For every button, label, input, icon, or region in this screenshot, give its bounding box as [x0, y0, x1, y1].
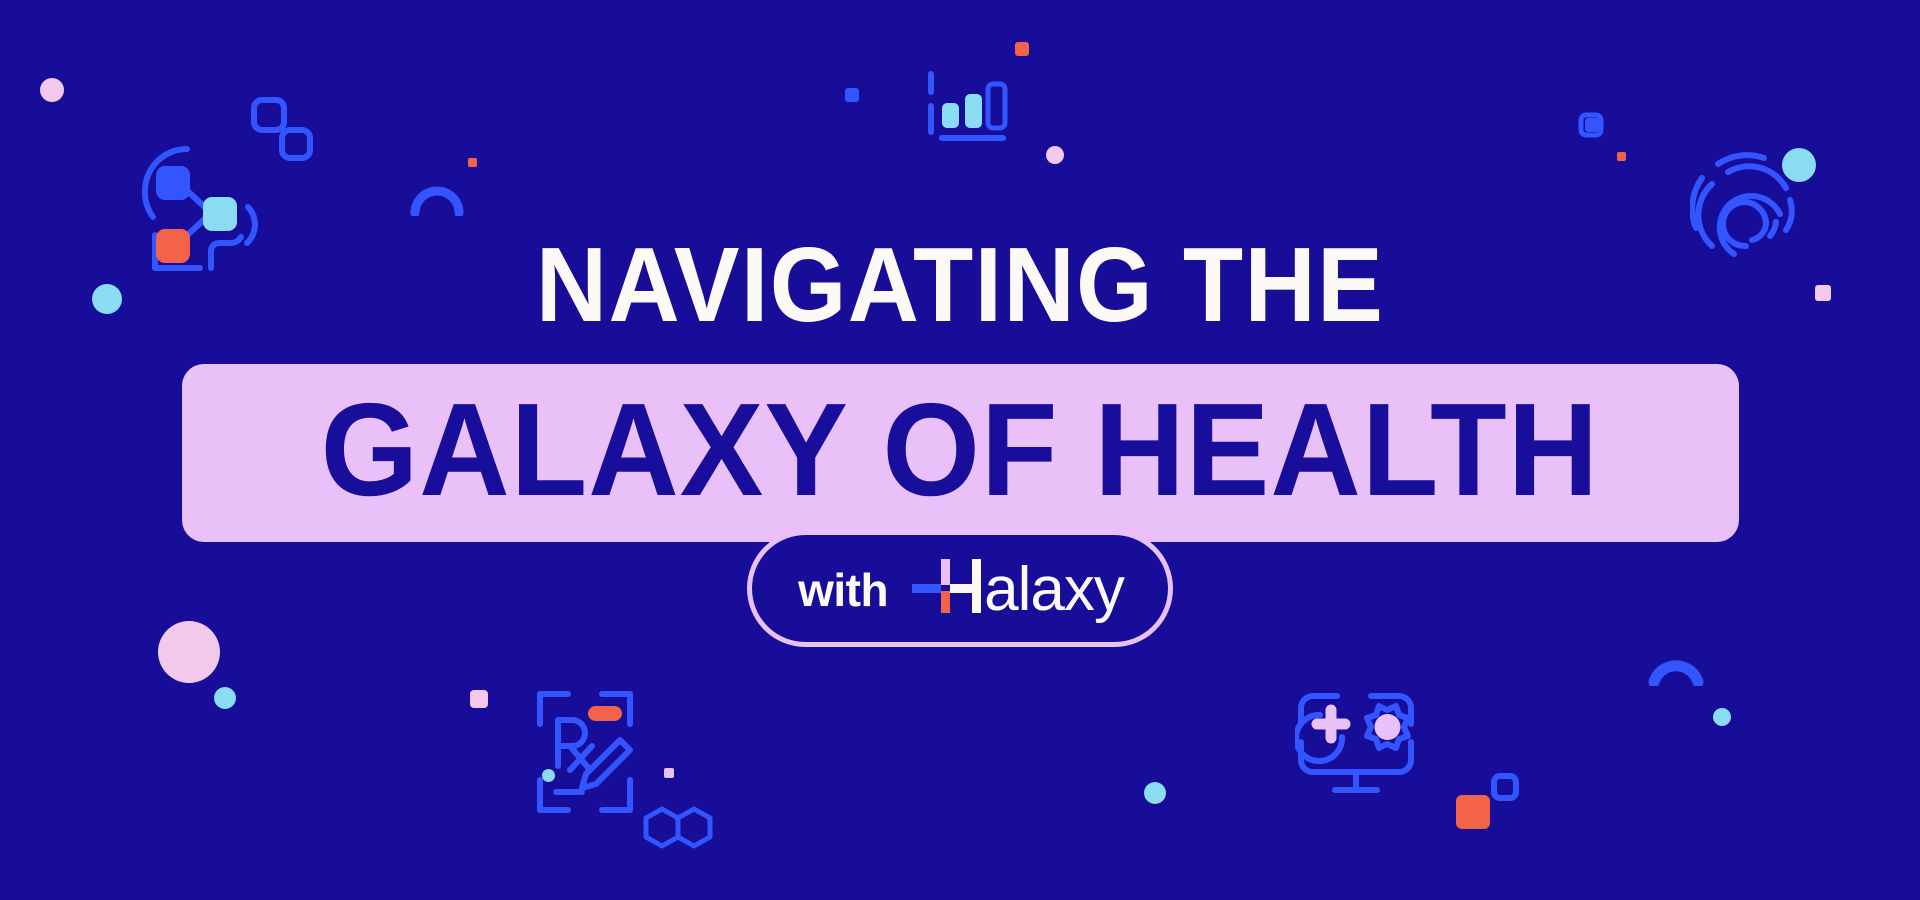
- halaxy-logomark-icon: [910, 557, 986, 621]
- badge-prefix-label: with: [798, 567, 888, 613]
- brand-badge[interactable]: with alaxy: [747, 530, 1173, 647]
- headline-stack: NAVIGATING THE GALAXY OF HEALTH with ala…: [0, 0, 1920, 900]
- page-title-line-1: NAVIGATING THE: [536, 232, 1384, 338]
- halaxy-logo: alaxy: [910, 557, 1124, 621]
- headline-band: GALAXY OF HEALTH: [182, 364, 1739, 542]
- hero-banner: NAVIGATING THE GALAXY OF HEALTH with ala…: [0, 0, 1920, 900]
- page-title-line-2: GALAXY OF HEALTH: [321, 384, 1600, 516]
- halaxy-wordmark: alaxy: [984, 559, 1124, 621]
